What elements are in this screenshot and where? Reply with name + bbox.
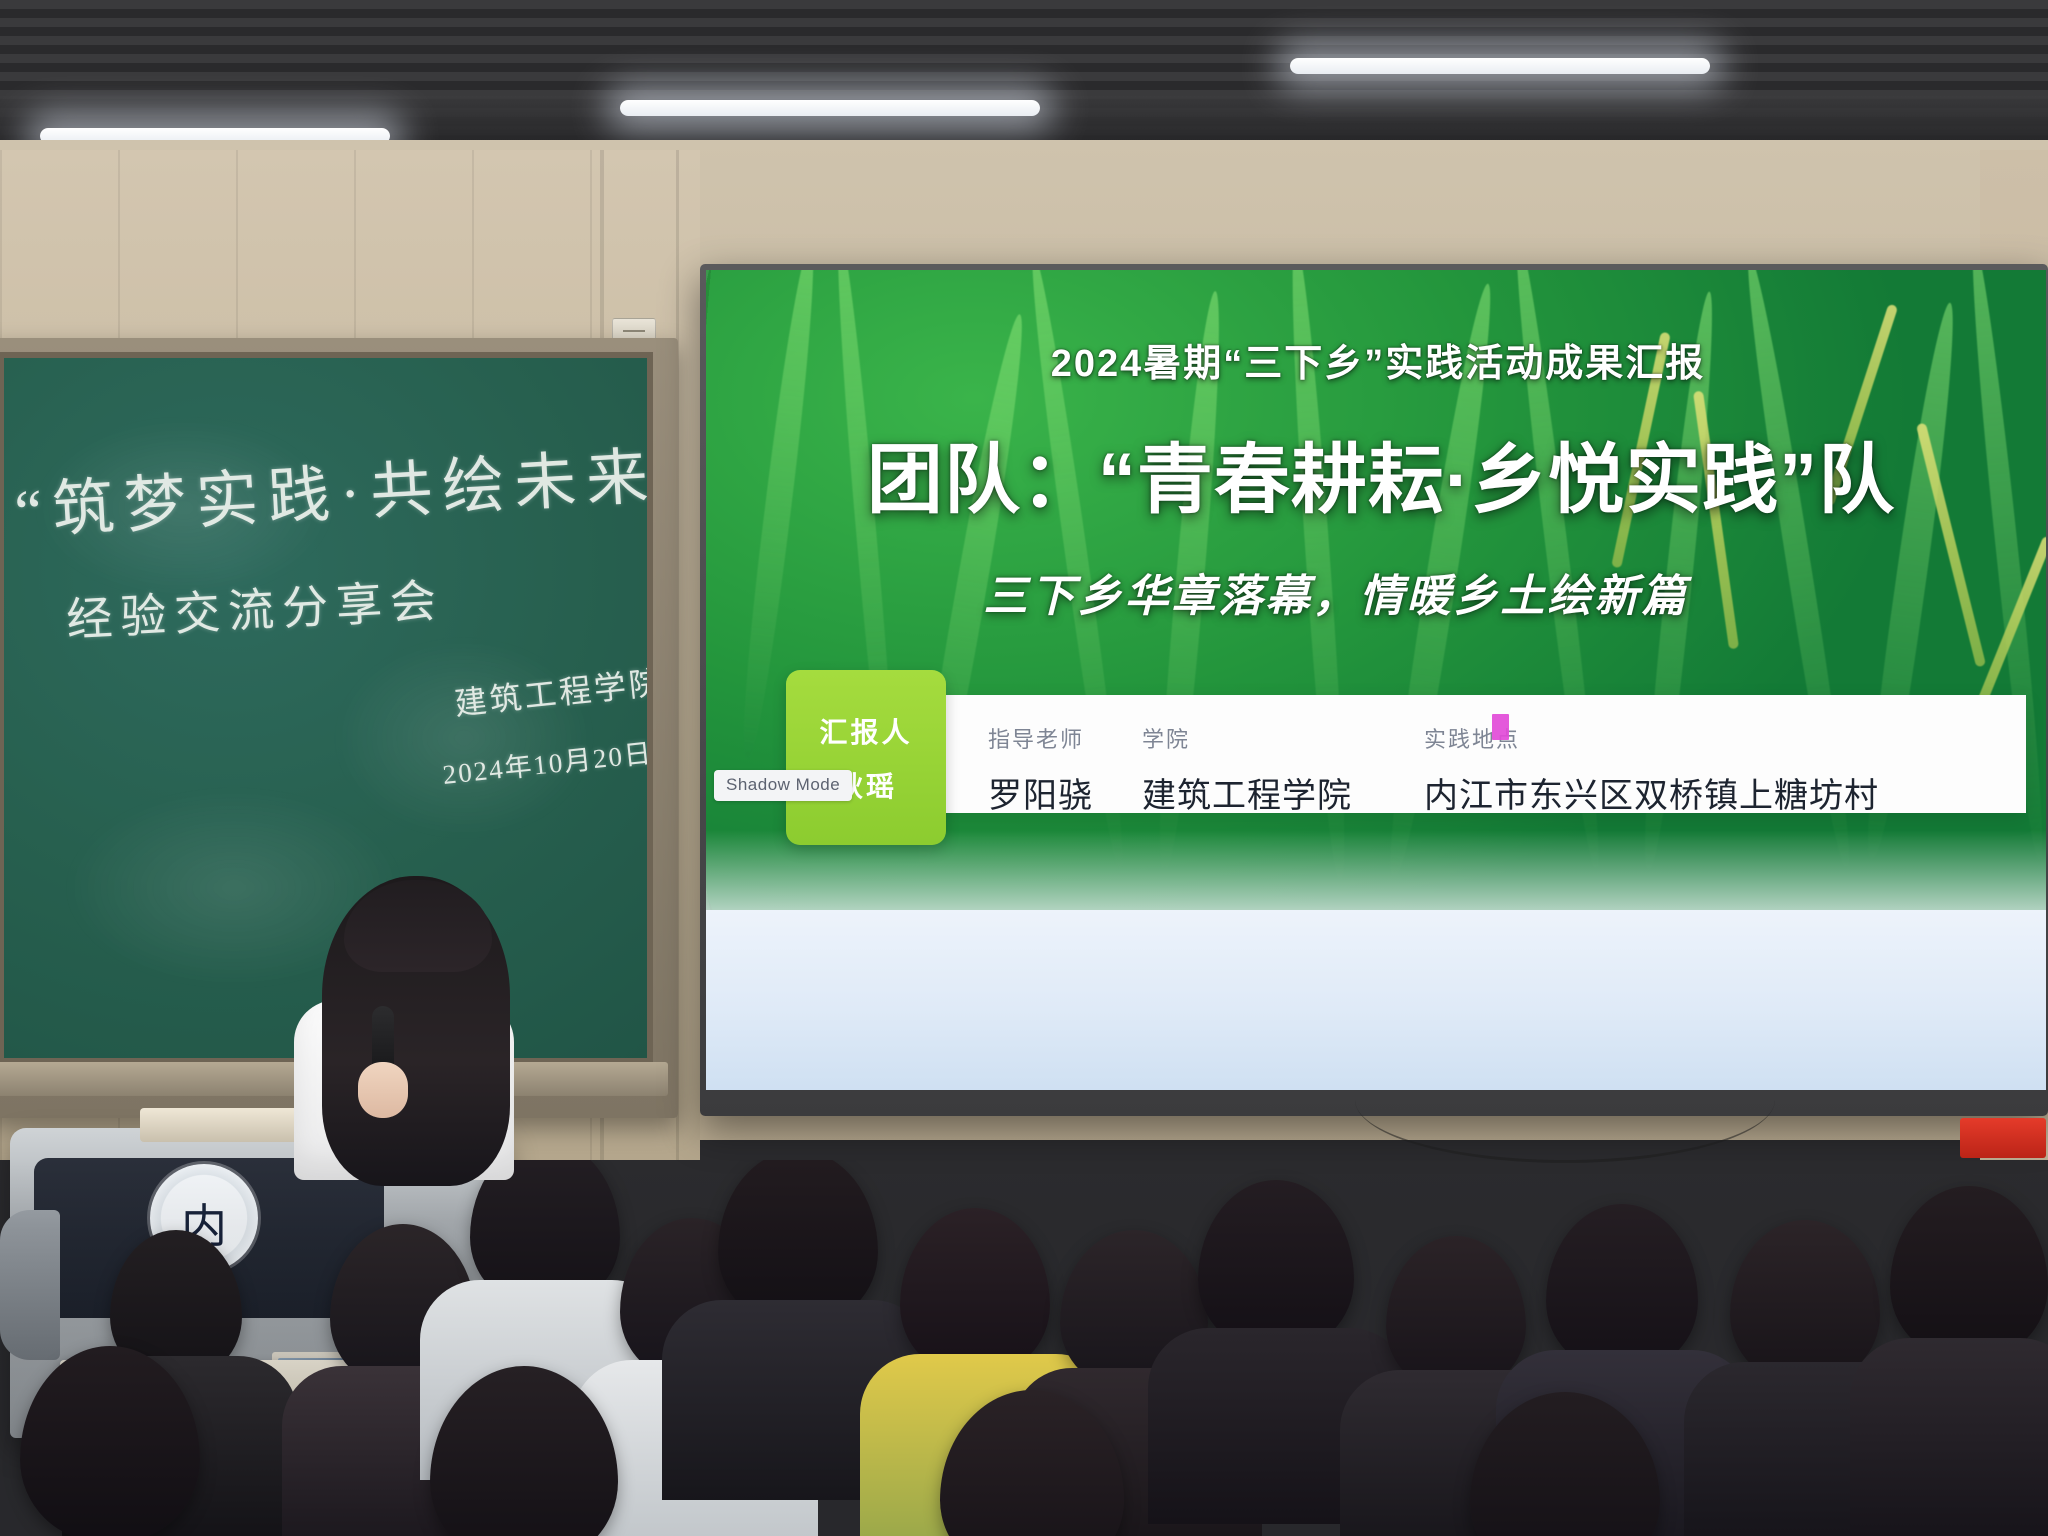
presentation-slide[interactable]: 2024暑期“三下乡”实践活动成果汇报 团队：“青春耕耘·乡悦实践”队 三下乡华… bbox=[706, 270, 2046, 1090]
field-college-value: 建筑工程学院 bbox=[1142, 768, 1352, 817]
slide-title: 团队：“青春耕耘·乡悦实践”队 bbox=[726, 418, 2036, 528]
audience-head bbox=[1546, 1204, 1698, 1372]
slide-lower-panel bbox=[706, 910, 2046, 1090]
field-advisor-label: 指导老师 bbox=[988, 722, 1093, 754]
audience-head bbox=[1730, 1220, 1880, 1384]
slide-subtitle: 2024暑期“三下乡”实践活动成果汇报 bbox=[778, 332, 1978, 387]
emergency-box bbox=[1960, 1118, 2046, 1158]
audience-head bbox=[1198, 1180, 1354, 1352]
presenter-badge: 汇报人 耿瑶 bbox=[786, 670, 946, 845]
ceiling-light-2 bbox=[620, 100, 1040, 116]
audience-area bbox=[0, 1160, 2048, 1536]
slide-tagline: 三下乡华章落幕，情暖乡土绘新篇 bbox=[746, 560, 1926, 624]
ceiling-light-3 bbox=[1290, 58, 1710, 74]
hanging-cable bbox=[1355, 1100, 1775, 1163]
field-location-value: 内江市东兴区双桥镇上糖坊村 bbox=[1424, 768, 1879, 817]
audience-shoulders bbox=[1850, 1338, 2048, 1536]
display-brand-logo bbox=[716, 1096, 778, 1110]
audience-head bbox=[900, 1208, 1050, 1376]
speaker-hand bbox=[358, 1062, 408, 1118]
text-cursor-highlight bbox=[1492, 714, 1509, 740]
audience-head bbox=[1386, 1236, 1526, 1392]
field-advisor-value: 罗阳骁 bbox=[988, 768, 1093, 817]
presenter-badge-label: 汇报人 bbox=[819, 711, 912, 751]
screenshot-root: “筑梦实践·共绘未来” 经验交流分享会 建筑工程学院 2024年10月20日 bbox=[0, 0, 2048, 1536]
field-advisor: 指导老师 罗阳骁 bbox=[988, 722, 1093, 817]
shadow-mode-badge[interactable]: Shadow Mode bbox=[714, 770, 852, 801]
audience-head bbox=[1890, 1186, 2048, 1360]
field-college: 学院 建筑工程学院 bbox=[1142, 722, 1352, 817]
field-college-label: 学院 bbox=[1142, 722, 1352, 754]
